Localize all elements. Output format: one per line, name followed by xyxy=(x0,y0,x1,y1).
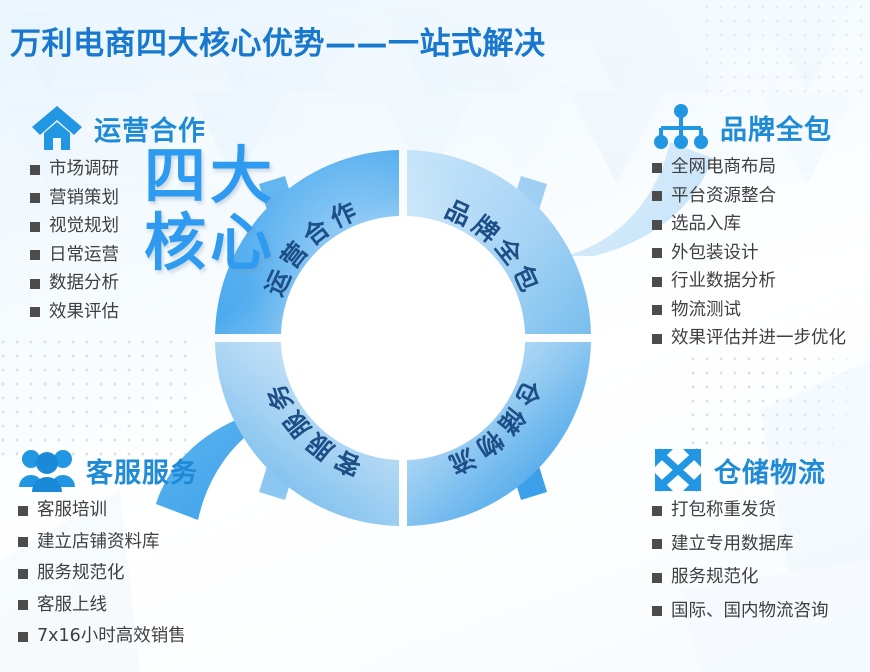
block-brand-list: 全网电商布局 平台资源整合 选品入库 外包装设计 行业数据分析 物流测试 效果评… xyxy=(652,159,846,348)
bullet-icon xyxy=(18,600,28,610)
list-item-label: 服务规范化 xyxy=(37,565,125,583)
bullet-icon xyxy=(652,573,662,583)
dot-grid-right xyxy=(686,352,870,456)
donut-inner-disc xyxy=(281,216,525,460)
list-item: 全网电商布局 xyxy=(652,159,846,177)
list-item: 客服上线 xyxy=(18,597,198,615)
list-item: 日常运营 xyxy=(30,247,206,265)
list-item-label: 行业数据分析 xyxy=(671,273,776,291)
list-item-label: 外包装设计 xyxy=(671,245,759,263)
list-item: 外包装设计 xyxy=(652,245,846,263)
org-chart-icon xyxy=(652,104,710,150)
dot-grid-topright xyxy=(700,0,870,96)
block-operation: 运营合作 市场调研 营销策划 视觉规划 日常运营 数据分析 效果评估 xyxy=(30,104,206,332)
list-item: 建立专用数据库 xyxy=(652,536,829,554)
bullet-icon xyxy=(652,506,662,516)
bullet-icon xyxy=(652,248,662,258)
bullet-icon xyxy=(18,537,28,547)
list-item-label: 选品入库 xyxy=(671,216,741,234)
bullet-icon xyxy=(18,632,28,642)
list-item: 服务规范化 xyxy=(652,569,829,587)
bullet-icon xyxy=(30,279,40,289)
list-item: 建立店铺资料库 xyxy=(18,534,198,552)
block-operation-list: 市场调研 营销策划 视觉规划 日常运营 数据分析 效果评估 xyxy=(30,161,206,321)
list-item-label: 营销策划 xyxy=(49,190,119,208)
bullet-icon xyxy=(652,220,662,230)
list-item: 营销策划 xyxy=(30,190,206,208)
bullet-icon xyxy=(652,305,662,315)
block-service: 客服服务 客服培训 建立店铺资料库 服务规范化 客服上线 7x16小时高效销售 xyxy=(18,447,198,660)
list-item: 服务规范化 xyxy=(18,565,198,583)
list-item-label: 物流测试 xyxy=(671,302,741,320)
list-item: 数据分析 xyxy=(30,275,206,293)
list-item-label: 7x16小时高效销售 xyxy=(37,628,186,646)
list-item: 物流测试 xyxy=(652,302,846,320)
list-item: 选品入库 xyxy=(652,216,846,234)
list-item-label: 打包称重发货 xyxy=(671,502,776,520)
list-item: 行业数据分析 xyxy=(652,273,846,291)
bullet-icon xyxy=(652,606,662,616)
block-logistics-header: 仓储物流 xyxy=(652,447,829,493)
list-item: 7x16小时高效销售 xyxy=(18,628,198,646)
list-item: 平台资源整合 xyxy=(652,188,846,206)
block-service-title: 客服服务 xyxy=(86,451,198,490)
list-item: 视觉规划 xyxy=(30,218,206,236)
block-service-list: 客服培训 建立店铺资料库 服务规范化 客服上线 7x16小时高效销售 xyxy=(18,502,198,646)
list-item-label: 建立店铺资料库 xyxy=(37,534,160,552)
block-brand-header: 品牌全包 xyxy=(652,104,846,150)
list-item-label: 市场调研 xyxy=(49,161,119,179)
list-item-label: 平台资源整合 xyxy=(671,188,776,206)
bullet-icon xyxy=(30,165,40,175)
bullet-icon xyxy=(652,334,662,344)
infographic-canvas: 万利电商四大核心优势——一站式解决 xyxy=(0,0,870,672)
list-item: 效果评估 xyxy=(30,304,206,322)
block-logistics: 仓储物流 打包称重发货 建立专用数据库 服务规范化 国际、国内物流咨询 xyxy=(652,447,829,636)
list-item-label: 客服上线 xyxy=(37,597,107,615)
four-arrows-icon xyxy=(652,447,704,493)
list-item-label: 日常运营 xyxy=(49,247,119,265)
block-service-header: 客服服务 xyxy=(18,447,198,493)
bullet-icon xyxy=(18,506,28,516)
block-brand-title: 品牌全包 xyxy=(720,108,832,147)
list-item-label: 视觉规划 xyxy=(49,218,119,236)
people-icon xyxy=(18,447,76,493)
list-item-label: 客服培训 xyxy=(37,502,107,520)
bullet-icon xyxy=(652,277,662,287)
bullet-icon xyxy=(30,193,40,203)
bullet-icon xyxy=(18,569,28,579)
bullet-icon xyxy=(652,539,662,549)
list-item: 市场调研 xyxy=(30,161,206,179)
list-item: 打包称重发货 xyxy=(652,502,829,520)
block-operation-header: 运营合作 xyxy=(30,104,206,152)
block-logistics-list: 打包称重发货 建立专用数据库 服务规范化 国际、国内物流咨询 xyxy=(652,502,829,620)
page-title: 万利电商四大核心优势——一站式解决 xyxy=(10,18,546,63)
list-item-label: 数据分析 xyxy=(49,275,119,293)
list-item-label: 全网电商布局 xyxy=(671,159,776,177)
bullet-icon xyxy=(30,250,40,260)
core-donut-chart: 运营合作 品牌全包 客服服务 仓储物流 xyxy=(193,128,613,548)
list-item-label: 建立专用数据库 xyxy=(671,536,794,554)
block-operation-title: 运营合作 xyxy=(94,109,206,148)
bullet-icon xyxy=(652,163,662,173)
list-item-label: 效果评估并进一步优化 xyxy=(671,330,846,348)
list-item-label: 服务规范化 xyxy=(671,569,759,587)
bullet-icon xyxy=(30,307,40,317)
list-item-label: 效果评估 xyxy=(49,304,119,322)
list-item-label: 国际、国内物流咨询 xyxy=(671,603,829,621)
bullet-icon xyxy=(652,191,662,201)
block-brand: 品牌全包 全网电商布局 平台资源整合 选品入库 外包装设计 行业数据分析 物流测… xyxy=(652,104,846,359)
list-item: 国际、国内物流咨询 xyxy=(652,603,829,621)
list-item: 效果评估并进一步优化 xyxy=(652,330,846,348)
list-item: 客服培训 xyxy=(18,502,198,520)
block-logistics-title: 仓储物流 xyxy=(714,451,826,490)
bullet-icon xyxy=(30,222,40,232)
home-icon xyxy=(30,104,84,152)
